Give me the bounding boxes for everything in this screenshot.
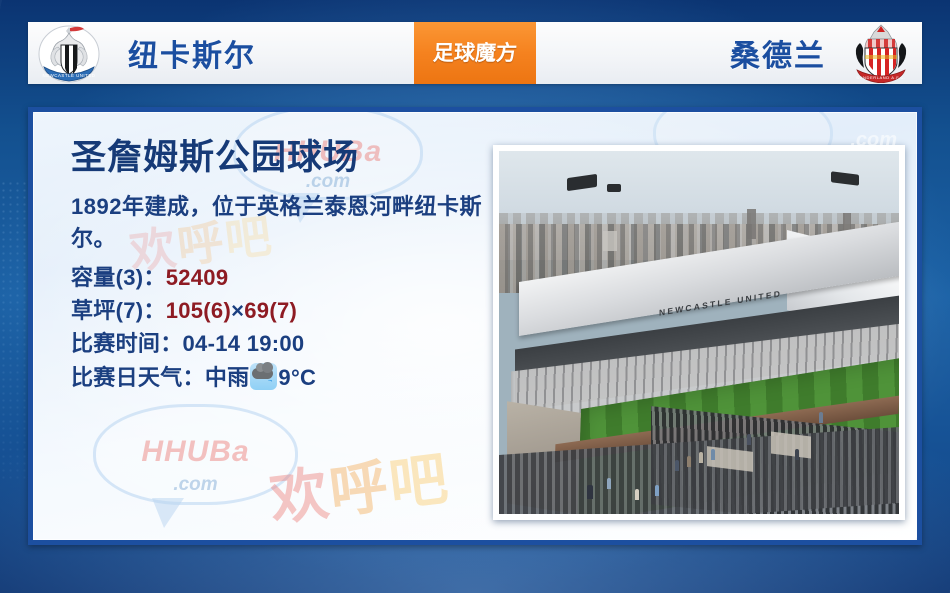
watermark-chinese-logo: 欢呼吧: [265, 431, 454, 536]
stadium-photo: NEWCASTLE UNITED: [499, 151, 899, 514]
away-team-block[interactable]: 桑德兰 SUNDERLAND A.F.C.: [536, 22, 922, 84]
match-time-value: 04-14 19:00: [183, 331, 305, 356]
watermark-bubble-text-bottom: HHUBa: [93, 435, 298, 469]
photo-spectator-3: [699, 452, 703, 463]
away-team-name: 桑德兰: [730, 31, 826, 75]
photo-spectator-10: [635, 489, 639, 500]
pitch-row: 草坪(7)：105(6)×69(7): [71, 294, 491, 327]
photo-spectator-2: [687, 456, 691, 467]
stadium-info-panel: HHUBa .com HHUBa .com 欢呼吧 欢呼吧 .com 圣詹姆斯公…: [28, 107, 922, 545]
pitch-separator: ×: [231, 298, 244, 323]
pitch-length-value: 105(6): [166, 298, 231, 323]
photo-spectator-8: [587, 485, 593, 499]
stadium-photo-frame[interactable]: .com NEWCASTLE UNITED: [493, 145, 905, 520]
weather-row: 比赛日天气：中雨9°C: [71, 361, 491, 394]
home-team-block[interactable]: NEWCASTLE UNITED 纽卡斯尔: [28, 22, 414, 84]
photo-spectator-5: [747, 434, 751, 445]
capacity-value: 52409: [166, 265, 229, 290]
temperature-value: 9°C: [278, 365, 316, 390]
watermark-char-3: 吧: [386, 446, 453, 518]
site-logo-text: 足球魔方: [432, 43, 517, 64]
rain-cloud-icon: [250, 363, 277, 390]
svg-text:SUNDERLAND A.F.C.: SUNDERLAND A.F.C.: [856, 75, 906, 80]
photo-spectator-6: [795, 449, 799, 460]
newcastle-united-crest-icon: NEWCASTLE UNITED: [36, 23, 102, 83]
capacity-row: 容量(3)：52409: [71, 261, 491, 294]
svg-text:NEWCASTLE UNITED: NEWCASTLE UNITED: [43, 73, 96, 78]
watermark-bubble-bottom: HHUBa .com: [93, 404, 298, 534]
stadium-details: 圣詹姆斯公园球场 1892年建成，位于英格兰泰恩河畔纽卡斯尔。 容量(3)：52…: [71, 140, 491, 394]
home-team-name: 纽卡斯尔: [128, 31, 256, 75]
sunderland-afc-crest-icon: SUNDERLAND A.F.C.: [848, 23, 914, 83]
pitch-width-value: 69(7): [244, 298, 297, 323]
photo-spectator-9: [607, 478, 611, 489]
watermark-char-1: 欢: [266, 461, 333, 533]
photo-spectator-7: [819, 412, 823, 423]
match-time-row: 比赛时间：04-14 19:00: [71, 327, 491, 360]
stadium-description: 1892年建成，位于英格兰泰恩河畔纽卡斯尔。: [71, 191, 491, 255]
stadium-name-title: 圣詹姆斯公园球场: [71, 140, 491, 177]
weather-label: 比赛日天气：: [71, 365, 205, 390]
pitch-label: 草坪(7)：: [71, 298, 166, 323]
match-header-bar: NEWCASTLE UNITED 纽卡斯尔 足球魔方 桑德兰 SUNDERLAN…: [28, 22, 922, 84]
photo-city-block: [603, 231, 617, 251]
site-logo-badge[interactable]: 足球魔方: [414, 22, 536, 84]
photo-spectator-4: [711, 449, 715, 460]
photo-floodlight-left-2: [607, 184, 621, 192]
photo-spectator-1: [675, 460, 679, 471]
watermark-bubble-domain-bottom: .com: [93, 474, 298, 496]
match-time-label: 比赛时间：: [71, 331, 183, 356]
capacity-label: 容量(3)：: [71, 265, 166, 290]
weather-value: 中雨: [205, 365, 250, 390]
photo-city-tower-1: [747, 209, 756, 239]
photo-spectator-11: [655, 485, 659, 496]
watermark-char-2: 呼: [326, 454, 393, 526]
photo-watermark-domain: .com: [850, 129, 897, 152]
